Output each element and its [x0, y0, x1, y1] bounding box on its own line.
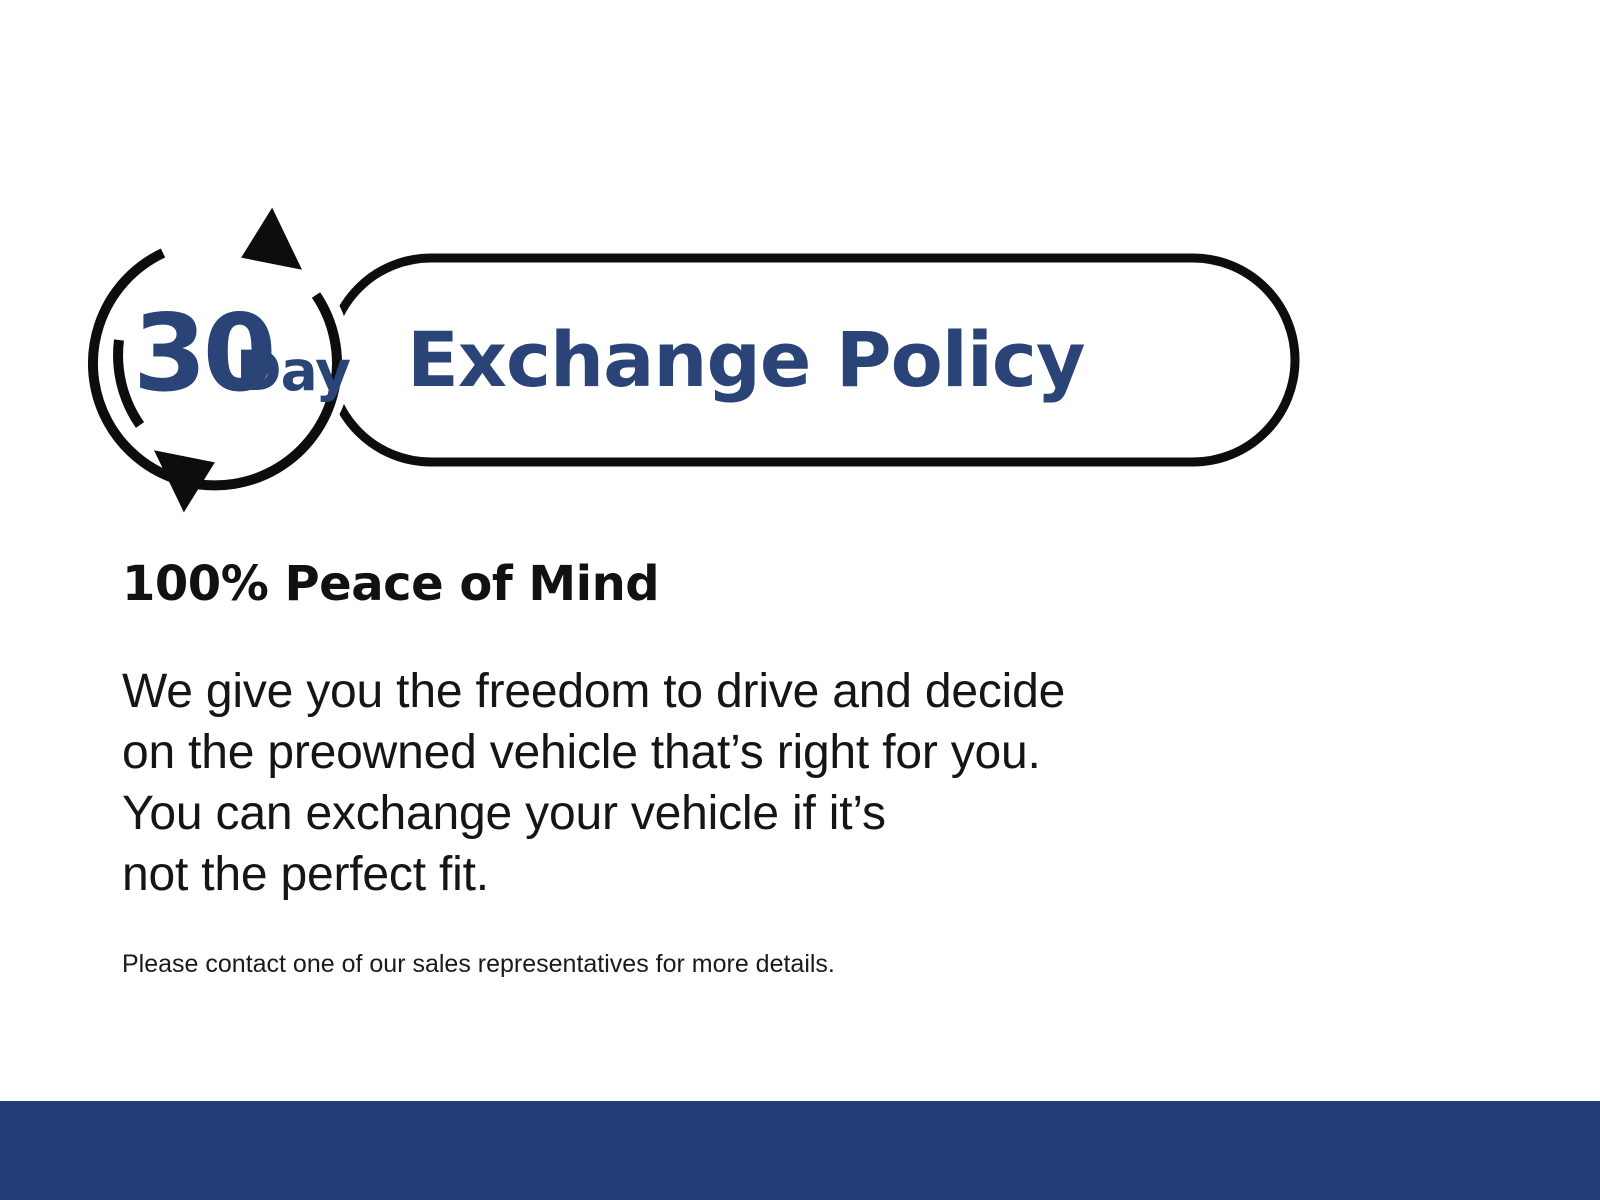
- badge-title-svg: 30 Day Exchange Policy: [95, 190, 1305, 495]
- policy-copy: 100% Peace of Mind We give you the freed…: [122, 560, 1342, 979]
- policy-slide: 30 Day Exchange Policy 100% Peace of Min…: [0, 0, 1600, 1200]
- badge-unit-label: Day: [236, 339, 350, 403]
- page-title: Exchange Policy: [407, 315, 1085, 404]
- fineprint-note: Please contact one of our sales represen…: [122, 905, 1342, 979]
- footer-accent-bar: [0, 1101, 1600, 1200]
- body-paragraph: We give you the freedom to drive and dec…: [122, 608, 1342, 905]
- subheading: 100% Peace of Mind: [122, 560, 1342, 608]
- badge-title-lockup: 30 Day Exchange Policy: [95, 190, 1305, 495]
